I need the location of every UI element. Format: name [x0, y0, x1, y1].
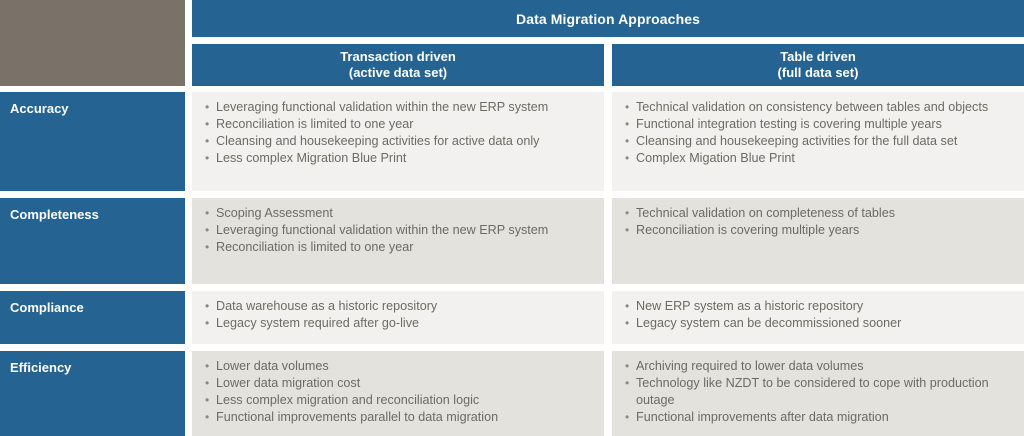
bullet-item: Technical validation on consistency betw… — [624, 99, 1014, 116]
column-header-table-driven-line2: (full data set) — [778, 65, 859, 81]
column-header-table-driven: Table driven (full data set) — [612, 44, 1024, 86]
cell-completeness-transaction-driven: Scoping AssessmentLeveraging functional … — [192, 198, 604, 284]
bullet-item: Less complex Migration Blue Print — [204, 150, 594, 167]
bullet-item: Functional integration testing is coveri… — [624, 116, 1014, 133]
column-header-table-driven-line1: Table driven — [780, 49, 856, 65]
bullet-item: Archiving required to lower data volumes — [624, 358, 1014, 375]
bullet-item: Data warehouse as a historic repository — [204, 298, 594, 315]
matrix-row: CompletenessScoping AssessmentLeveraging… — [0, 198, 1024, 284]
bullet-list: Leveraging functional validation within … — [204, 99, 594, 167]
bullet-list: Archiving required to lower data volumes… — [624, 358, 1014, 425]
bullet-item: Complex Migation Blue Print — [624, 150, 1014, 167]
column-header-transaction-driven: Transaction driven (active data set) — [192, 44, 604, 86]
bullet-item: Functional improvements parallel to data… — [204, 409, 594, 426]
column-header-transaction-driven-line1: Transaction driven — [340, 49, 456, 65]
cell-efficiency-transaction-driven: Lower data volumesLower data migration c… — [192, 351, 604, 436]
cell-efficiency-table-driven: Archiving required to lower data volumes… — [612, 351, 1024, 436]
bullet-list: Scoping AssessmentLeveraging functional … — [204, 205, 594, 256]
bullet-list: Technical validation on consistency betw… — [624, 99, 1014, 167]
bullet-item: Less complex migration and reconciliatio… — [204, 392, 594, 409]
matrix-row: EfficiencyLower data volumesLower data m… — [0, 351, 1024, 436]
bullet-item: Lower data migration cost — [204, 375, 594, 392]
bullet-item: Scoping Assessment — [204, 205, 594, 222]
bullet-list: Data warehouse as a historic repositoryL… — [204, 298, 594, 332]
bullet-item: Cleansing and housekeeping activities fo… — [624, 133, 1014, 150]
bullet-item: Lower data volumes — [204, 358, 594, 375]
matrix-row: AccuracyLeveraging functional validation… — [0, 92, 1024, 191]
bullet-item: Reconciliation is limited to one year — [204, 239, 594, 256]
comparison-matrix: Data Migration Approaches Transaction dr… — [0, 0, 1024, 436]
cell-compliance-transaction-driven: Data warehouse as a historic repositoryL… — [192, 291, 604, 344]
matrix-title: Data Migration Approaches — [192, 0, 1024, 37]
corner-cell — [0, 0, 185, 86]
cell-accuracy-transaction-driven: Leveraging functional validation within … — [192, 92, 604, 191]
cell-compliance-table-driven: New ERP system as a historic repositoryL… — [612, 291, 1024, 344]
bullet-item: Leveraging functional validation within … — [204, 99, 594, 116]
bullet-item: New ERP system as a historic repository — [624, 298, 1014, 315]
bullet-item: Leveraging functional validation within … — [204, 222, 594, 239]
bullet-item: Technical validation on completeness of … — [624, 205, 1014, 222]
bullet-list: Lower data volumesLower data migration c… — [204, 358, 594, 426]
dimension-label-completeness: Completeness — [0, 198, 185, 284]
dimension-label-accuracy: Accuracy — [0, 92, 185, 191]
dimension-label-efficiency: Efficiency — [0, 351, 185, 436]
matrix-header: Data Migration Approaches Transaction dr… — [0, 0, 1024, 86]
dimension-label-compliance: Compliance — [0, 291, 185, 344]
bullet-item: Legacy system can be decommissioned soon… — [624, 315, 1014, 332]
column-header-transaction-driven-line2: (active data set) — [349, 65, 447, 81]
matrix-row: ComplianceData warehouse as a historic r… — [0, 291, 1024, 344]
bullet-item: Reconciliation is covering multiple year… — [624, 222, 1014, 239]
bullet-list: Technical validation on completeness of … — [624, 205, 1014, 239]
bullet-item: Legacy system required after go-live — [204, 315, 594, 332]
bullet-item: Functional improvements after data migra… — [624, 409, 1014, 426]
bullet-list: New ERP system as a historic repositoryL… — [624, 298, 1014, 332]
bullet-item: Reconciliation is limited to one year — [204, 116, 594, 133]
bullet-item: Technology like NZDT to be considered to… — [624, 375, 1014, 408]
cell-accuracy-table-driven: Technical validation on consistency betw… — [612, 92, 1024, 191]
bullet-item: Cleansing and housekeeping activities fo… — [204, 133, 594, 150]
cell-completeness-table-driven: Technical validation on completeness of … — [612, 198, 1024, 284]
